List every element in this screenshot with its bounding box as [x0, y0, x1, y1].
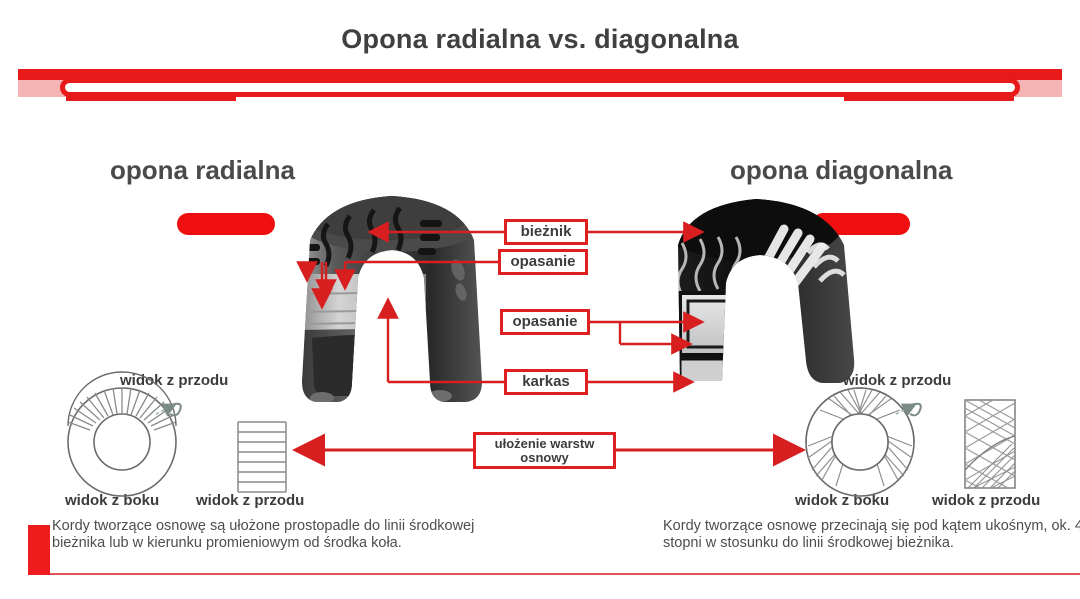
- label-right-front-view-top: widok z przodu: [843, 372, 951, 389]
- callout-belt-top[interactable]: opasanie: [498, 249, 588, 275]
- callout-ply-layout[interactable]: ułożenie warstw osnowy: [473, 432, 616, 469]
- footer-accent-block: [28, 525, 50, 575]
- accent-pill-left: [177, 213, 275, 235]
- radial-tire-illustration: [268, 182, 518, 427]
- radial-side-view-diagram: [68, 372, 181, 496]
- callout-carcass[interactable]: karkas: [504, 369, 588, 395]
- footer-rule: [28, 573, 1080, 575]
- header-tail-right: [844, 96, 1014, 101]
- label-left-side-view: widok z boku: [65, 492, 159, 509]
- callout-belt-mid[interactable]: opasanie: [500, 309, 590, 335]
- radial-front-view-diagram: [238, 422, 286, 492]
- callout-tread[interactable]: bieżnik: [504, 219, 588, 245]
- label-right-side-view: widok z boku: [795, 492, 889, 509]
- caption-diagonal: Kordy tworzące osnowę przecinają się pod…: [663, 518, 1080, 552]
- slide-canvas: Opona radialna vs. diagonalna opona radi…: [0, 0, 1080, 599]
- header-tail-left: [66, 96, 236, 101]
- page-title: Opona radialna vs. diagonalna: [0, 24, 1080, 55]
- label-left-front-view-top: widok z przodu: [120, 372, 228, 389]
- header-decoration: [18, 69, 1062, 103]
- label-right-front-view-bottom: widok z przodu: [932, 492, 1040, 509]
- heading-diagonal-tire: opona diagonalna: [730, 155, 952, 186]
- diagonal-front-view-diagram: [965, 400, 1015, 488]
- diagonal-tire-illustration: [648, 183, 898, 428]
- caption-radial: Kordy tworzące osnowę są ułożone prostop…: [52, 518, 502, 552]
- label-left-front-view-bottom: widok z przodu: [196, 492, 304, 509]
- header-pill-outline: [60, 78, 1020, 97]
